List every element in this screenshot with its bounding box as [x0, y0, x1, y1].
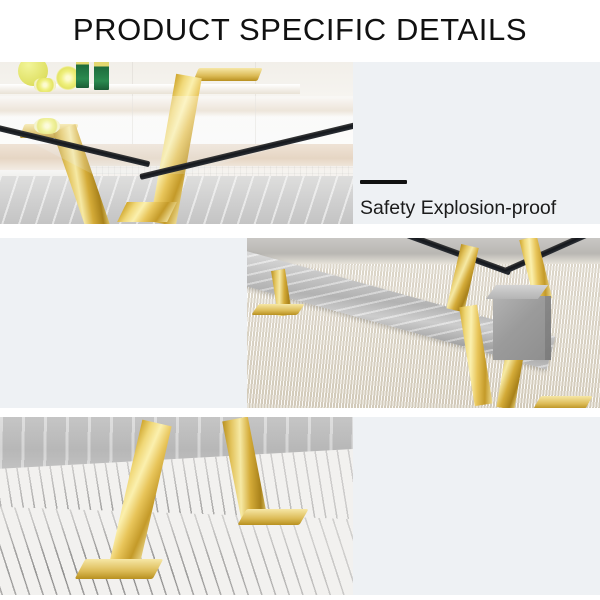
page-title: PRODUCT SPECIFIC DETAILS: [0, 10, 600, 50]
mdf-plate-cube: [493, 296, 551, 360]
gold-leg-back-foot: [237, 509, 308, 525]
mdf-cube-top-face: [486, 285, 548, 299]
green-bottle-1: [76, 62, 89, 88]
product-photo-mdf-connection: [247, 238, 600, 408]
green-bottle-2: [94, 62, 109, 90]
caption-line-1b: Transparent Glass: [360, 221, 556, 224]
leg-top-cap-right: [193, 68, 262, 81]
gold-leg-front-foot: [75, 559, 164, 579]
caption-block-1: Safety Explosion-proof Transparent Glass: [360, 180, 556, 224]
product-detail-page: PRODUCT SPECIFIC DETAILS: [0, 0, 600, 600]
near-foot: [533, 396, 593, 408]
far-leg-foot: [251, 304, 304, 315]
gold-leg-foot-joint: [117, 202, 177, 222]
detail-panel-3: Metal Frame Bracing Stable Support: [0, 417, 600, 595]
caption-dash-1: [360, 180, 407, 184]
lemon-slice-second: [34, 78, 56, 92]
detail-panel-1: Safety Explosion-proof Transparent Glass: [0, 62, 600, 224]
product-photo-glass-top: [0, 62, 353, 224]
detail-panel-2: Sturdy & Beautiful MDF Plate Connection: [0, 238, 600, 408]
caption-line-1a: Safety Explosion-proof: [360, 196, 556, 221]
product-photo-frame-bracing: [0, 417, 353, 595]
